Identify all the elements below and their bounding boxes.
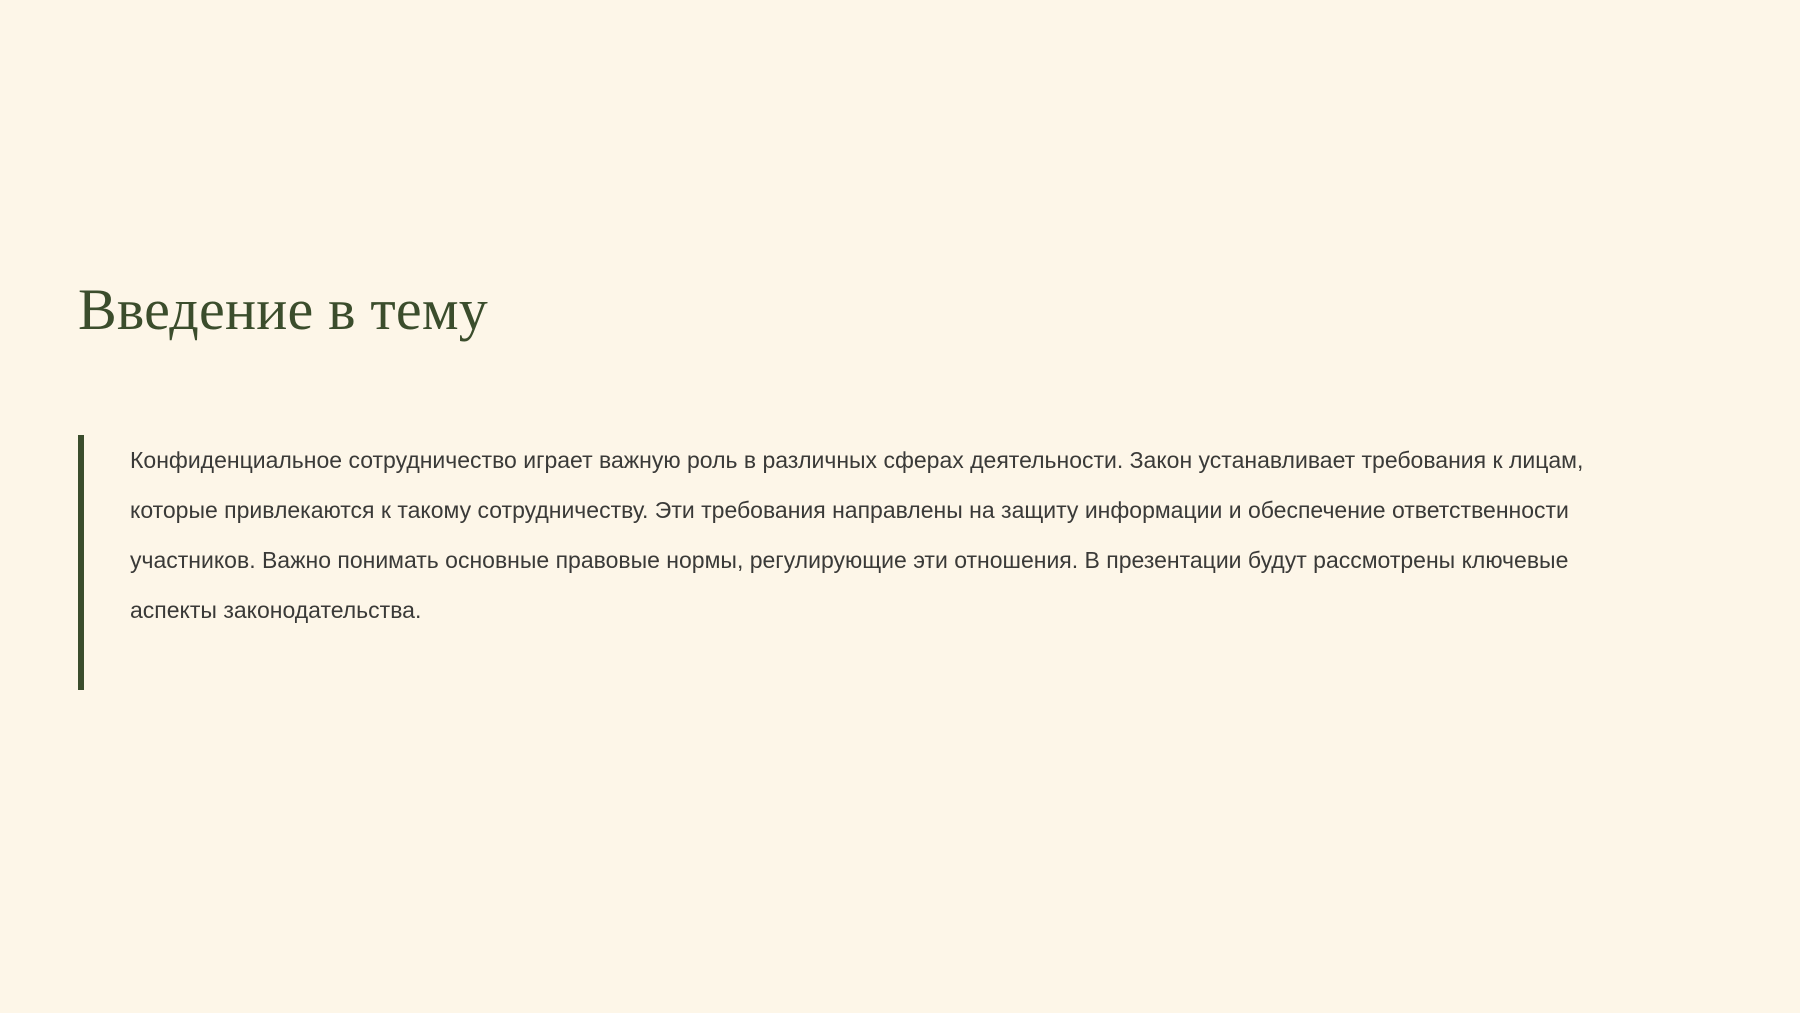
body-callout-block: Конфиденциальное сотрудничество играет в… bbox=[78, 435, 1638, 690]
page-title: Введение в тему bbox=[78, 278, 1638, 343]
slide-content: Введение в тему Конфиденциальное сотрудн… bbox=[78, 278, 1638, 690]
body-paragraph: Конфиденциальное сотрудничество играет в… bbox=[130, 435, 1585, 635]
presentation-slide: Введение в тему Конфиденциальное сотрудн… bbox=[0, 0, 1800, 1013]
left-accent-bar bbox=[78, 435, 84, 690]
